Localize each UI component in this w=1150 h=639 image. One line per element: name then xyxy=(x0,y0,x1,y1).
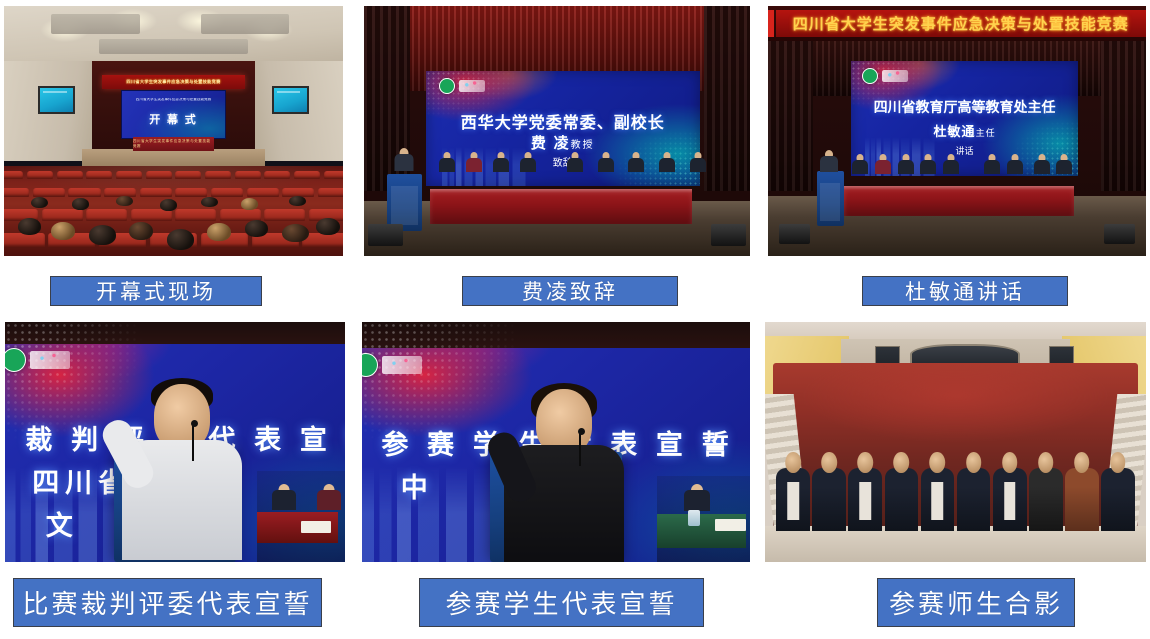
seated-official xyxy=(1006,154,1024,174)
seated-official xyxy=(626,152,646,174)
front-row-person xyxy=(1065,468,1099,530)
led-screen-title: 西华大学党委常委、副校长 xyxy=(437,109,689,133)
audience-area xyxy=(4,166,343,256)
seated-official xyxy=(437,152,457,174)
name-placard xyxy=(301,521,332,533)
stage-banner-text: 四川省大学生突发事件应急决策与处置技能竞赛 xyxy=(102,75,244,89)
podium-placard xyxy=(391,186,417,225)
photo-gallery-page: 四川省大学生突发事件应急决策与处置技能竞赛 四川省大学生突发事件应急决策与处置技… xyxy=(0,0,1150,639)
stage-banner: 四川省大学生突发事件应急决策与处置技能竞赛 xyxy=(102,75,244,89)
stage-speaker-box xyxy=(1104,224,1134,244)
judge-representative xyxy=(127,384,237,504)
caption-group-photo: 参赛师生合影 xyxy=(877,578,1075,627)
auditorium-floor xyxy=(765,526,1146,562)
audience-head xyxy=(201,197,218,208)
led-screen-name: 费 凌教授 xyxy=(437,132,689,153)
seat-row xyxy=(4,171,343,179)
led-screen-title: 四川省教育厅高等教育处主任 xyxy=(860,97,1069,117)
audience-head xyxy=(51,222,75,240)
audience-head xyxy=(72,198,89,210)
photo-group-photo-image xyxy=(765,322,1146,562)
led-logo-group xyxy=(439,78,485,94)
audience-head xyxy=(316,218,340,235)
front-row-person xyxy=(812,468,846,530)
audience-head xyxy=(167,229,194,250)
stage-curtain-right xyxy=(1101,41,1146,191)
audience-head xyxy=(116,196,133,207)
audience-head xyxy=(89,225,116,245)
ceiling-beam xyxy=(51,14,139,34)
banner-led-board: 四川省大学生突发事件应急决策与处置技能竞赛 xyxy=(776,10,1146,37)
photo-feiling-speech-image: 西华大学党委常委、副校长 费 凌教授 致辞 xyxy=(364,6,750,256)
seated-official xyxy=(897,154,915,174)
seated-official xyxy=(942,154,960,174)
audience-head xyxy=(129,222,153,240)
seated-official xyxy=(874,154,892,174)
water-bottle xyxy=(688,510,700,526)
led-screen-name-text: 费 凌 xyxy=(531,136,571,152)
photo-dumintong-speech-image: 四川省大学生突发事件应急决策与处置技能竞赛 四川省教育厅高等教育处主任 杜敏通主… xyxy=(768,6,1146,256)
seated-official xyxy=(271,484,297,514)
sponsor-logo-icon xyxy=(459,80,485,92)
microphone-icon xyxy=(578,428,585,435)
stage-curtain-right xyxy=(704,6,750,191)
seated-official xyxy=(983,154,1001,174)
university-seal-icon xyxy=(5,348,26,372)
speaker-at-podium xyxy=(393,148,415,174)
photo-judges-oath[interactable]: 裁 判 评 委 代 表 宣 誓 四川省 文 四川省大学生突发事件 xyxy=(5,322,345,562)
audience-head xyxy=(31,197,48,209)
microphone-stand xyxy=(192,423,194,461)
university-seal-icon xyxy=(439,78,455,94)
speaker-podium xyxy=(817,171,843,226)
ceiling-beam xyxy=(201,14,289,34)
student-representative xyxy=(509,389,619,509)
caption-feiling-speech: 费凌致辞 xyxy=(462,276,678,306)
seated-official xyxy=(1055,154,1073,174)
speaker-podium xyxy=(387,174,422,232)
stage-speaker-box xyxy=(711,224,746,247)
photo-students-oath[interactable]: 参 赛 学 生 代 表 宣 誓 中 四川省大学生突发事件 应急决策与处置技能竞赛… xyxy=(362,322,750,562)
seated-official xyxy=(565,152,585,174)
audience-head xyxy=(245,220,269,237)
front-row-person xyxy=(1101,468,1135,530)
front-row-person xyxy=(1029,468,1063,530)
seated-official xyxy=(688,152,708,174)
front-row-person xyxy=(957,468,991,530)
stage-speaker-box xyxy=(368,224,403,247)
led-screen-name-suffix: 教授 xyxy=(571,140,595,151)
hall-banner-strip: 四川省大学生突发事件应急决策与处置技能竞赛 xyxy=(768,6,1146,41)
hall-banner-text: 四川省大学生突发事件应急决策与处置技能竞赛 xyxy=(776,10,1146,37)
audience-head xyxy=(289,196,306,207)
seated-official xyxy=(518,152,538,174)
seated-official xyxy=(657,152,677,174)
led-screen-name: 杜敏通主任 xyxy=(860,121,1069,140)
sponsor-logo-icon xyxy=(30,351,70,369)
photo-feiling-speech[interactable]: 西华大学党委常委、副校长 费 凌教授 致辞 xyxy=(364,6,750,256)
seated-official xyxy=(464,152,484,174)
audience-head xyxy=(282,224,309,243)
university-seal-icon xyxy=(862,68,878,84)
screen-subtitle-text: 四川省大学生突发事件应急决策与处置技能竞赛 xyxy=(126,98,221,102)
audience-head xyxy=(207,223,231,241)
head-table xyxy=(430,189,693,224)
side-monitor-right xyxy=(272,86,309,114)
front-row-group xyxy=(776,468,1134,530)
caption-students-oath: 参赛学生代表宣誓 xyxy=(419,578,704,627)
photo-opening-ceremony[interactable]: 四川省大学生突发事件应急决策与处置技能竞赛 四川省大学生突发事件应急决策与处置技… xyxy=(4,6,343,256)
university-seal-icon xyxy=(362,353,378,377)
caption-opening-ceremony: 开幕式现场 xyxy=(50,276,262,306)
caption-judges-oath: 比赛裁判评委代表宣誓 xyxy=(13,578,322,627)
screen-main-text: 开 幕 式 xyxy=(122,111,225,127)
seated-official xyxy=(491,152,511,174)
led-logo-group xyxy=(5,348,70,372)
front-row-person xyxy=(993,468,1027,530)
speaker-at-podium xyxy=(819,150,839,174)
head-table xyxy=(844,186,1075,216)
seat-row xyxy=(4,209,343,221)
photo-judges-oath-image: 裁 判 评 委 代 表 宣 誓 四川省 文 四川省大学生突发事件 xyxy=(5,322,345,562)
stage-curtain-left xyxy=(768,41,813,191)
stage-speaker-box xyxy=(779,224,809,244)
head-table: 四川省大学生突发事件应急决策与处置技能竞赛 xyxy=(133,137,214,151)
seated-official xyxy=(919,154,937,174)
audience-head xyxy=(18,218,42,235)
ceiling-beam xyxy=(99,39,248,54)
side-monitor-left xyxy=(38,86,75,114)
head-table-text: 四川省大学生突发事件应急决策与处置技能竞赛 xyxy=(133,137,214,151)
led-logo-group xyxy=(862,68,908,84)
seated-official xyxy=(851,154,869,174)
front-row-person xyxy=(885,468,919,530)
photo-opening-ceremony-image: 四川省大学生突发事件应急决策与处置技能竞赛 四川省大学生突发事件应急决策与处置技… xyxy=(4,6,343,256)
podium-placard xyxy=(820,183,840,220)
front-row-person xyxy=(921,468,955,530)
name-placard xyxy=(715,519,746,531)
photo-students-oath-image: 参 赛 学 生 代 表 宣 誓 中 四川省大学生突发事件 应急决策与处置技能竞赛… xyxy=(362,322,750,562)
microphone-stand xyxy=(579,430,581,466)
front-row-person xyxy=(848,468,882,530)
sponsor-logo-icon xyxy=(382,356,422,374)
seated-official xyxy=(1033,154,1051,174)
caption-dumintong-speech: 杜敏通讲话 xyxy=(862,276,1068,306)
photo-dumintong-speech[interactable]: 四川省大学生突发事件应急决策与处置技能竞赛 四川省教育厅高等教育处主任 杜敏通主… xyxy=(768,6,1146,256)
audience-head xyxy=(241,198,258,210)
led-screen-name-suffix: 主任 xyxy=(976,128,996,138)
photo-group-photo[interactable] xyxy=(765,322,1146,562)
front-row-person xyxy=(776,468,810,530)
stage-led-screen: 四川省大学生突发事件应急决策与处置技能竞赛 开 幕 式 xyxy=(121,90,226,140)
banner-end-cap xyxy=(768,10,774,37)
led-logo-group xyxy=(362,353,422,377)
seated-official xyxy=(316,484,342,514)
seated-official xyxy=(596,152,616,174)
audience-head xyxy=(160,199,177,211)
led-screen-name-text: 杜敏通 xyxy=(934,124,976,139)
sponsor-logo-icon xyxy=(882,70,908,82)
